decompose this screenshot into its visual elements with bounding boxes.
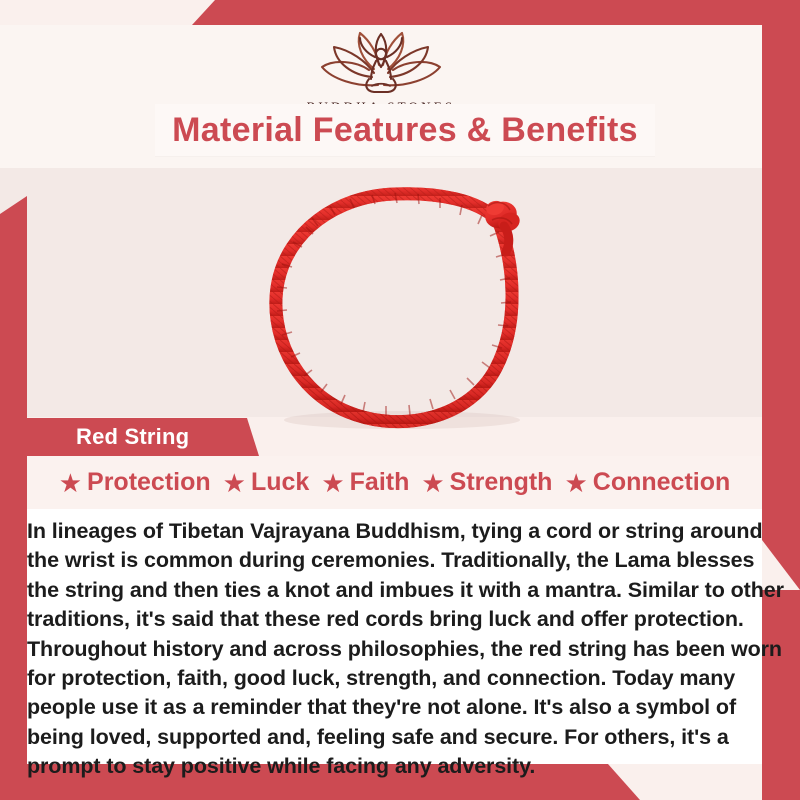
benefit-item: ★Strength	[421, 470, 552, 496]
benefit-item: ★Connection	[564, 470, 730, 496]
brand-logo: BUDDHA STONES	[0, 25, 762, 115]
benefits-row: ★Protection★Luck★Faith★Strength★Connecti…	[27, 456, 762, 509]
red-string-bracelet-image	[252, 172, 572, 442]
page-title: Material Features & Benefits	[172, 113, 638, 147]
star-icon: ★	[223, 470, 246, 496]
decor-band-left	[0, 196, 27, 800]
benefit-label: Faith	[350, 470, 410, 495]
description-text: In lineages of Tibetan Vajrayana Buddhis…	[27, 509, 784, 782]
page-title-ribbon: Material Features & Benefits	[155, 104, 655, 156]
star-icon: ★	[421, 470, 444, 496]
star-icon: ★	[321, 470, 344, 496]
benefit-label: Luck	[251, 470, 309, 495]
benefit-item: ★Protection	[59, 470, 211, 496]
decor-band-top	[0, 0, 800, 25]
lotus-meditation-icon	[306, 29, 456, 97]
star-icon: ★	[564, 470, 587, 496]
benefits-list: ★Protection★Luck★Faith★Strength★Connecti…	[53, 470, 737, 496]
benefit-label: Connection	[593, 470, 731, 495]
benefit-label: Protection	[87, 470, 211, 495]
infographic-poster: BUDDHA STONES	[0, 0, 800, 800]
benefit-item: ★Faith	[321, 470, 409, 496]
benefit-label: Strength	[450, 470, 553, 495]
star-icon: ★	[59, 470, 82, 496]
benefit-item: ★Luck	[223, 470, 310, 496]
section-tab-label: Red String	[19, 424, 189, 450]
description-panel: In lineages of Tibetan Vajrayana Buddhis…	[27, 509, 762, 764]
section-tab-red-string: Red String	[19, 418, 259, 456]
